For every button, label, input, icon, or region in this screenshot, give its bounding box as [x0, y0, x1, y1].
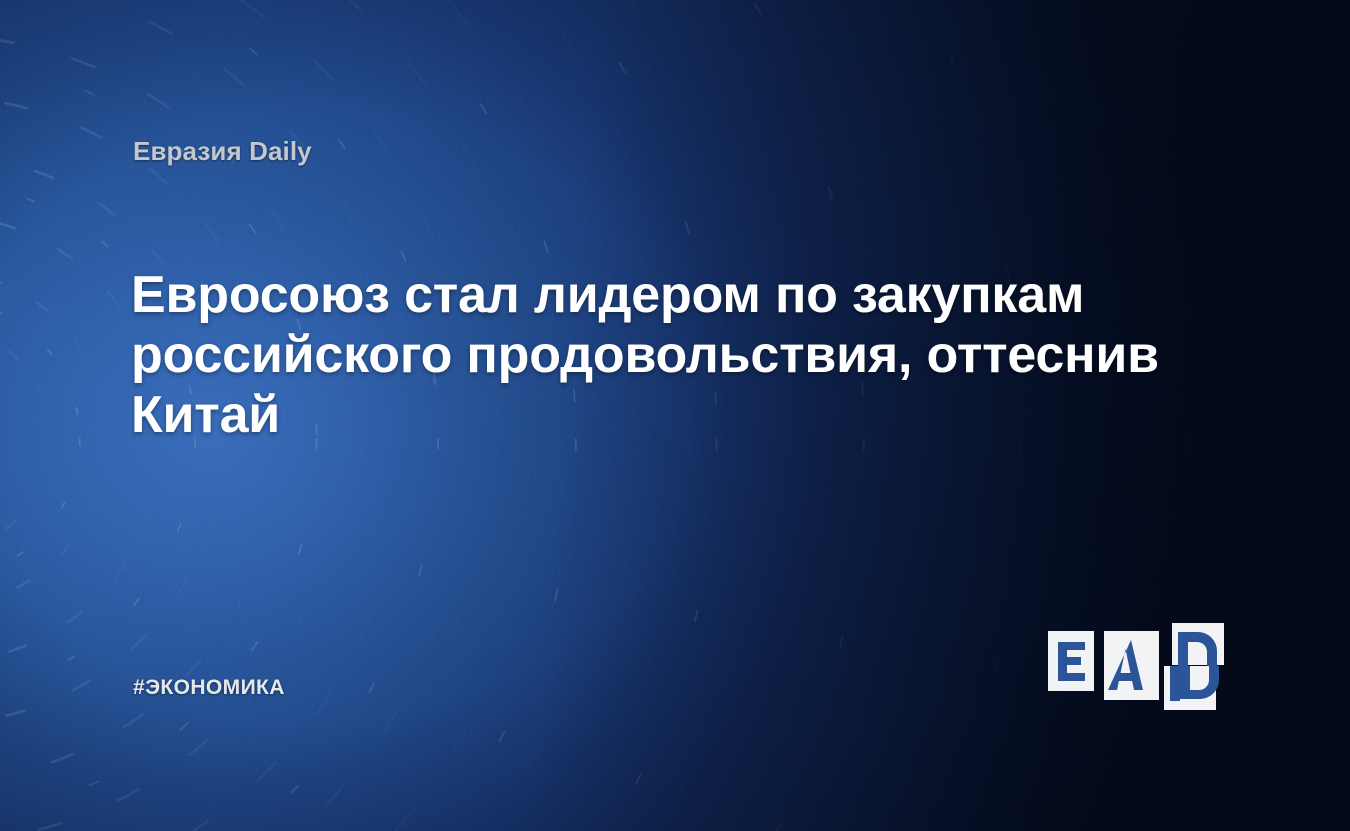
card-content: Евразия Daily Евросоюз стал лидером по з… — [0, 0, 1350, 831]
share-card: Евразия Daily Евросоюз стал лидером по з… — [0, 0, 1350, 831]
article-headline: Евросоюз стал лидером по закупкам россий… — [131, 265, 1221, 445]
ead-logo — [1046, 618, 1236, 714]
category-tag: #ЭКОНОМИКА — [133, 676, 285, 700]
logo-letter-e — [1058, 642, 1085, 681]
brand-name: Евразия Daily — [133, 136, 312, 167]
